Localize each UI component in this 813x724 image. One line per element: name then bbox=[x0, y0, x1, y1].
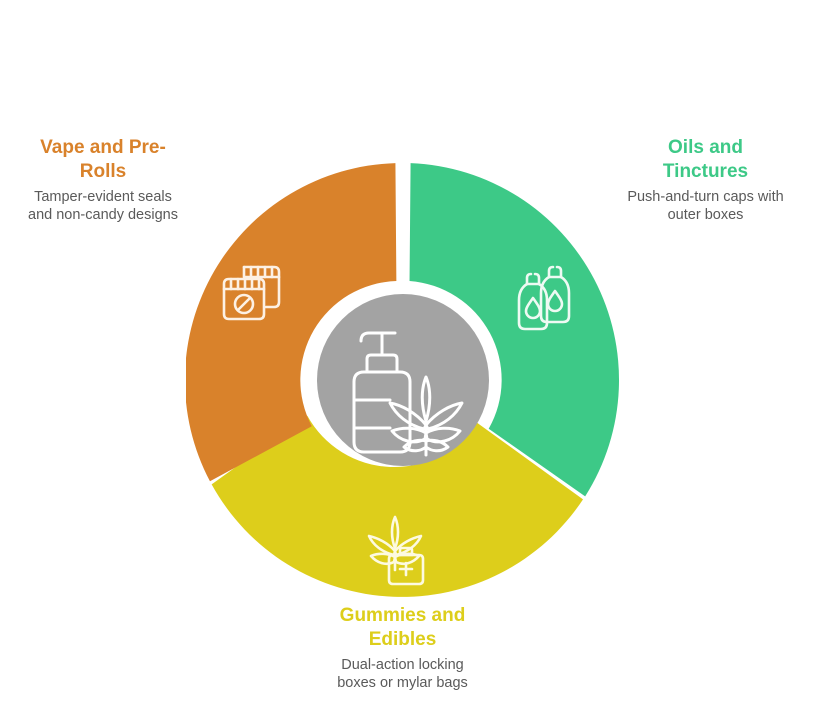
label-desc-oils-line1: Push-and-turn caps with bbox=[627, 189, 783, 205]
label-desc-gummies: Dual-action locking boxes or mylar bags bbox=[300, 656, 505, 692]
label-desc-gummies-line2: boxes or mylar bags bbox=[337, 675, 468, 691]
label-title-oils-line2: Tinctures bbox=[663, 161, 748, 182]
label-title-gummies: Gummies and Edibles bbox=[300, 604, 505, 652]
label-gummies-and-edibles: Gummies and Edibles Dual-action locking … bbox=[300, 604, 505, 692]
label-desc-oils-line2: outer boxes bbox=[668, 207, 744, 223]
donut-chart bbox=[186, 163, 620, 597]
label-title-vape-line2: Rolls bbox=[80, 161, 126, 182]
label-title-gummies-line1: Gummies and bbox=[340, 605, 466, 626]
label-vape-and-pre-rolls: Vape and Pre- Rolls Tamper-evident seals… bbox=[10, 136, 196, 224]
label-title-vape: Vape and Pre- Rolls bbox=[10, 136, 196, 184]
label-desc-oils: Push-and-turn caps with outer boxes bbox=[608, 188, 803, 224]
label-title-vape-line1: Vape and Pre- bbox=[40, 137, 166, 158]
label-oils-and-tinctures: Oils and Tinctures Push-and-turn caps wi… bbox=[608, 136, 803, 224]
label-title-gummies-line2: Edibles bbox=[369, 629, 437, 650]
label-desc-vape-line1: Tamper-evident seals bbox=[34, 189, 172, 205]
label-title-oils: Oils and Tinctures bbox=[608, 136, 803, 184]
infographic-root: Vape and Pre- Rolls Tamper-evident seals… bbox=[0, 0, 813, 724]
label-desc-vape: Tamper-evident seals and non-candy desig… bbox=[10, 188, 196, 224]
label-title-oils-line1: Oils and bbox=[668, 137, 743, 158]
label-desc-gummies-line1: Dual-action locking bbox=[341, 657, 464, 673]
label-desc-vape-line2: and non-candy designs bbox=[28, 207, 178, 223]
